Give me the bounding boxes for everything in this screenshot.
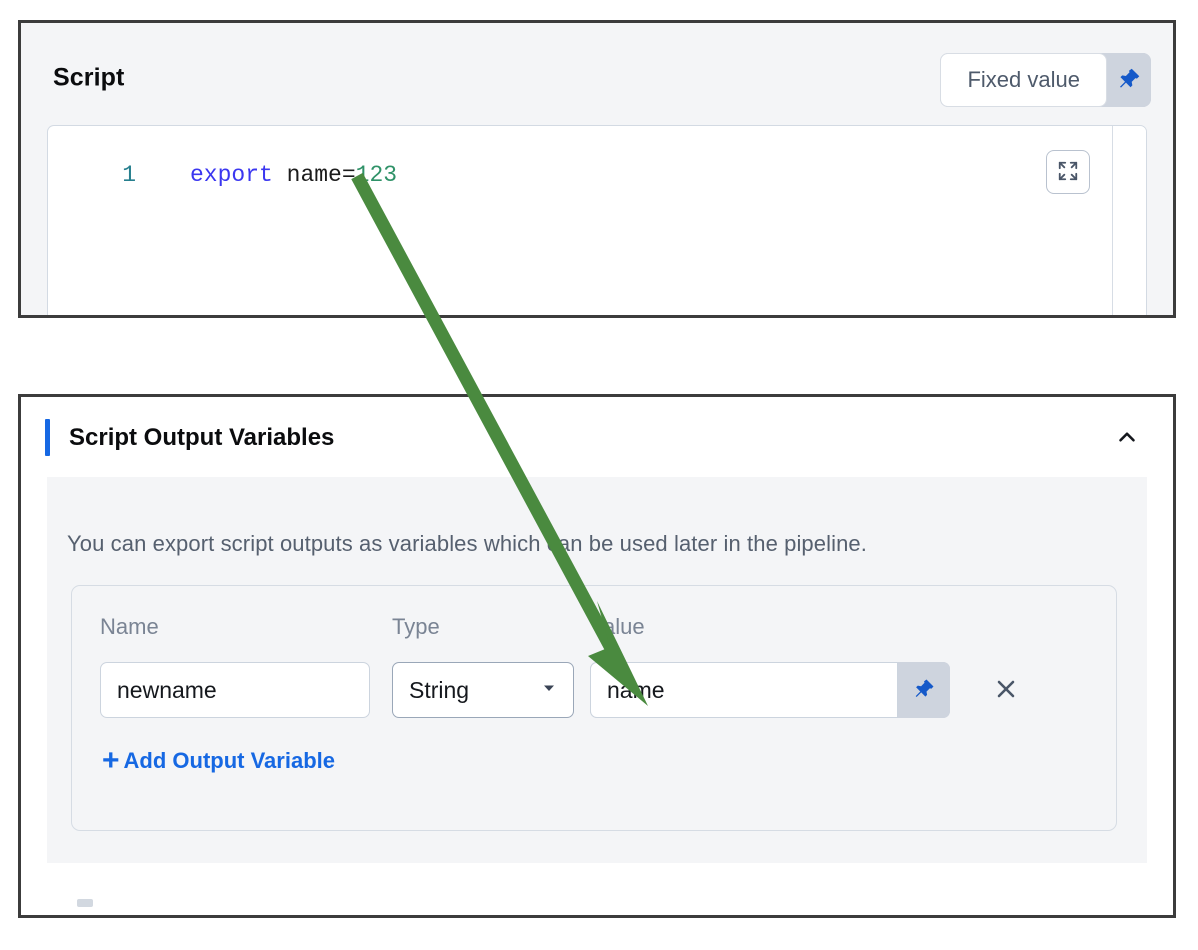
script-panel: Script Fixed value 1 export name= 12	[18, 20, 1176, 318]
remove-variable-button[interactable]	[984, 662, 1028, 718]
add-output-variable-button[interactable]: + Add Output Variable	[102, 746, 335, 776]
chevron-down-icon	[541, 680, 557, 701]
value-mode-control: Fixed value	[940, 53, 1151, 107]
script-panel-header: Script Fixed value	[21, 23, 1173, 111]
pin-icon	[912, 677, 936, 704]
variable-value-group	[590, 662, 950, 718]
screenshot-stage: Script Fixed value 1 export name= 12	[0, 0, 1198, 950]
code-token-number: 123	[356, 162, 397, 188]
output-variable-row: String	[72, 662, 1116, 720]
close-x-icon	[994, 677, 1018, 704]
variable-type-select[interactable]: String	[392, 662, 574, 718]
output-variable-card: Name Type Value String	[71, 585, 1117, 831]
add-output-variable-label: Add Output Variable	[124, 748, 335, 774]
variable-name-input[interactable]	[100, 662, 370, 718]
pin-icon	[1116, 66, 1142, 95]
code-token-keyword: export	[142, 162, 273, 188]
column-header-type: Type	[392, 614, 440, 640]
collapse-section-button[interactable]	[1107, 418, 1147, 458]
code-token-space	[273, 162, 287, 188]
fixed-value-button[interactable]: Fixed value	[940, 53, 1107, 107]
next-section-indicator	[77, 899, 93, 907]
code-editor[interactable]: 1 export name= 123	[47, 125, 1147, 315]
expand-fullscreen-icon	[1057, 160, 1079, 185]
output-variables-body: You can export script outputs as variabl…	[47, 477, 1147, 863]
chevron-up-icon	[1114, 424, 1140, 453]
line-number: 1	[48, 162, 142, 188]
code-token-variable: name=	[287, 162, 356, 188]
variable-type-selected-value: String	[409, 677, 469, 704]
variable-value-input[interactable]	[590, 662, 898, 718]
column-header-value: Value	[590, 614, 645, 640]
section-title: Script Output Variables	[69, 424, 334, 452]
expand-editor-button[interactable]	[1046, 150, 1090, 194]
variable-value-pin-button[interactable]	[898, 662, 950, 718]
editor-scroll-gutter[interactable]	[1112, 126, 1146, 315]
plus-icon: +	[102, 746, 120, 776]
column-header-name: Name	[100, 614, 159, 640]
section-description: You can export script outputs as variabl…	[67, 531, 867, 557]
page-title: Script	[53, 64, 124, 93]
section-accent-bar	[45, 419, 50, 456]
script-output-variables-panel: Script Output Variables You can export s…	[18, 394, 1176, 918]
output-variables-header: Script Output Variables	[21, 397, 1173, 477]
column-headers: Name Type Value	[72, 614, 1116, 648]
code-line-1: 1 export name= 123	[48, 162, 397, 188]
script-pin-button[interactable]	[1107, 53, 1151, 107]
